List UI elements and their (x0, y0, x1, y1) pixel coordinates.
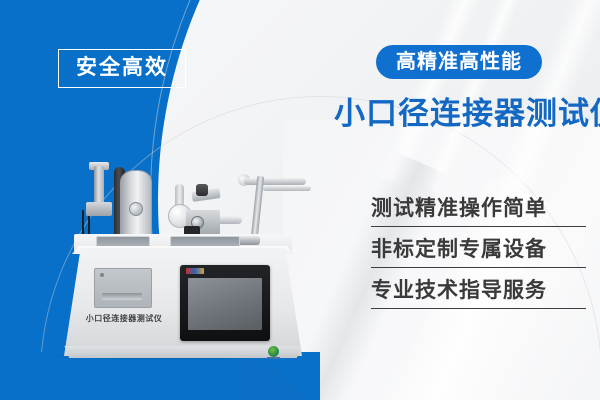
brand-logo-wordmark (267, 357, 280, 359)
machine-clamp-horizontal-bar (244, 178, 306, 185)
left-outlined-badge: 安全高效 (58, 49, 186, 88)
machine-front-plate-slot (102, 293, 142, 300)
product-title: 小口径连接器测试仪 (334, 96, 600, 133)
feature-item: 专业技术指导服务 (371, 278, 586, 309)
feature-item: 测试精准操作简单 (371, 196, 586, 227)
feature-label: 专业技术指导服务 (371, 278, 586, 302)
brand-logo-ring-icon (268, 346, 279, 357)
feature-list: 测试精准操作简单 非标定制专属设备 专业技术指导服务 (371, 196, 586, 319)
machine-clamp-vertical-bar (251, 176, 264, 238)
machine-hmi-screen (188, 278, 262, 330)
machine-brand-logo (267, 346, 280, 359)
product-machine-illustration: 小口径连接器测试仪 (58, 160, 308, 375)
product-banner: 小口径连接器测试仪 安全高效 高精准高性能 小口径连接器测试仪 测试精准操作简单… (0, 0, 600, 400)
machine-fixture-knob (196, 184, 208, 196)
machine-drum-hub (129, 202, 143, 216)
machine-front-plate-screw (100, 273, 104, 277)
feature-label: 测试精准操作简单 (371, 196, 586, 220)
feature-item: 非标定制专属设备 (371, 237, 586, 268)
machine-front-label: 小口径连接器测试仪 (76, 313, 172, 324)
feature-label: 非标定制专属设备 (371, 237, 586, 261)
highlight-pill-badge: 高精准高性能 (376, 45, 542, 79)
machine-clamp-rod (263, 186, 311, 191)
machine-hmi-brand-strip (186, 268, 204, 274)
